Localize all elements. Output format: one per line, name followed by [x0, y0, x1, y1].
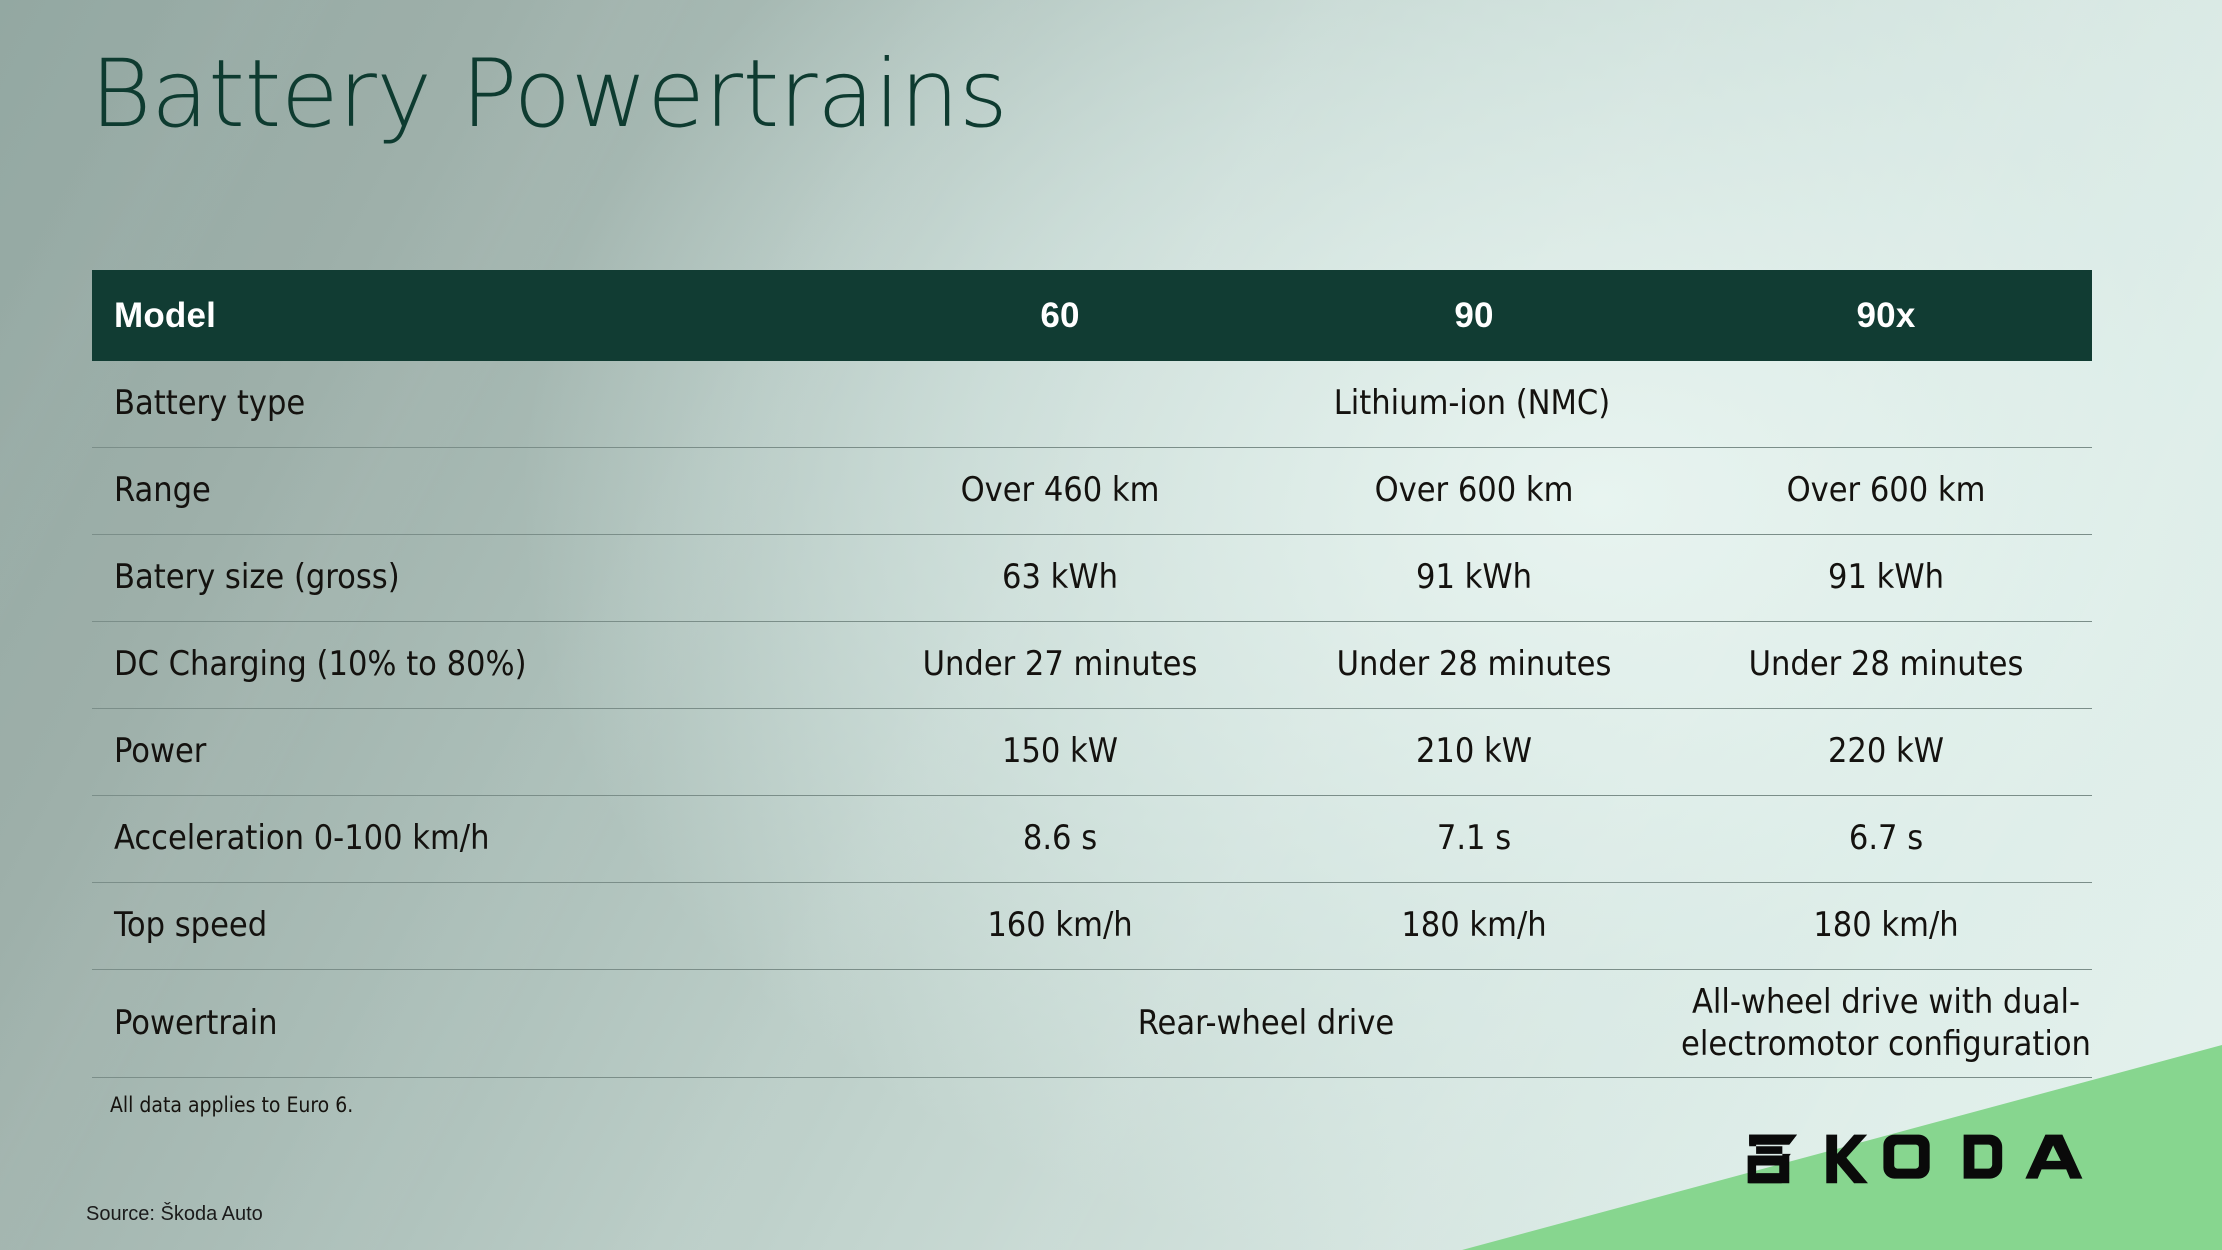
- cell-spanned: Lithium-ion (NMC): [852, 361, 2092, 447]
- row-label: Acceleration 0-100 km/h: [92, 796, 852, 882]
- cell-90x: 6.7 s: [1680, 796, 2092, 882]
- cell-90x: Under 28 minutes: [1680, 622, 2092, 708]
- table-row: Power 150 kW 210 kW 220 kW: [92, 709, 2092, 796]
- cell-90: 7.1 s: [1268, 796, 1680, 882]
- table-row: DC Charging (10% to 80%) Under 27 minute…: [92, 622, 2092, 709]
- cell-60: 63 kWh: [852, 535, 1268, 621]
- cell-60: 8.6 s: [852, 796, 1268, 882]
- cell-60: 160 km/h: [852, 883, 1268, 969]
- cell-90x: Over 600 km: [1680, 448, 2092, 534]
- source-line: Source: Škoda Auto: [86, 1203, 263, 1226]
- table-header-row: Model 60 90 90x: [92, 270, 2092, 361]
- table-row: Top speed 160 km/h 180 km/h 180 km/h: [92, 883, 2092, 970]
- cell-90: Over 600 km: [1268, 448, 1680, 534]
- table-row: Battery type Lithium-ion (NMC): [92, 361, 2092, 448]
- cell-spanned: Rear-wheel drive: [852, 970, 1680, 1077]
- cell-90x: All-wheel drive with dual-electromotor c…: [1680, 970, 2092, 1077]
- row-label: Range: [92, 448, 852, 534]
- cell-90x: 91 kWh: [1680, 535, 2092, 621]
- column-header-model: Model: [92, 270, 852, 361]
- footnote: All data applies to Euro 6.: [110, 1093, 353, 1117]
- row-label: Power: [92, 709, 852, 795]
- column-header-90x: 90x: [1680, 270, 2092, 361]
- row-label: DC Charging (10% to 80%): [92, 622, 852, 708]
- cell-90: 91 kWh: [1268, 535, 1680, 621]
- column-header-60: 60: [852, 270, 1268, 361]
- cell-90: Under 28 minutes: [1268, 622, 1680, 708]
- cell-90x: 220 kW: [1680, 709, 2092, 795]
- skoda-wordmark-icon: [1743, 1130, 2144, 1184]
- table-row: Batery size (gross) 63 kWh 91 kWh 91 kWh: [92, 535, 2092, 622]
- skoda-logo: [1743, 1127, 2144, 1187]
- row-label: Top speed: [92, 883, 852, 969]
- cell-60: 150 kW: [852, 709, 1268, 795]
- page-title: Battery Powertrains: [90, 40, 1007, 151]
- row-label: Powertrain: [92, 970, 852, 1077]
- cell-90: 210 kW: [1268, 709, 1680, 795]
- cell-90: 180 km/h: [1268, 883, 1680, 969]
- column-header-90: 90: [1268, 270, 1680, 361]
- table-row: Powertrain Rear-wheel drive All-wheel dr…: [92, 970, 2092, 1078]
- cell-90x: 180 km/h: [1680, 883, 2092, 969]
- row-label: Battery type: [92, 361, 852, 447]
- slide-canvas: Battery Powertrains Model 60 90 90x Batt…: [0, 0, 2222, 1250]
- table-row: Range Over 460 km Over 600 km Over 600 k…: [92, 448, 2092, 535]
- cell-60: Over 460 km: [852, 448, 1268, 534]
- row-label: Batery size (gross): [92, 535, 852, 621]
- cell-60: Under 27 minutes: [852, 622, 1268, 708]
- battery-spec-table: Model 60 90 90x Battery type Lithium-ion…: [92, 270, 2092, 1078]
- table-row: Acceleration 0-100 km/h 8.6 s 7.1 s 6.7 …: [92, 796, 2092, 883]
